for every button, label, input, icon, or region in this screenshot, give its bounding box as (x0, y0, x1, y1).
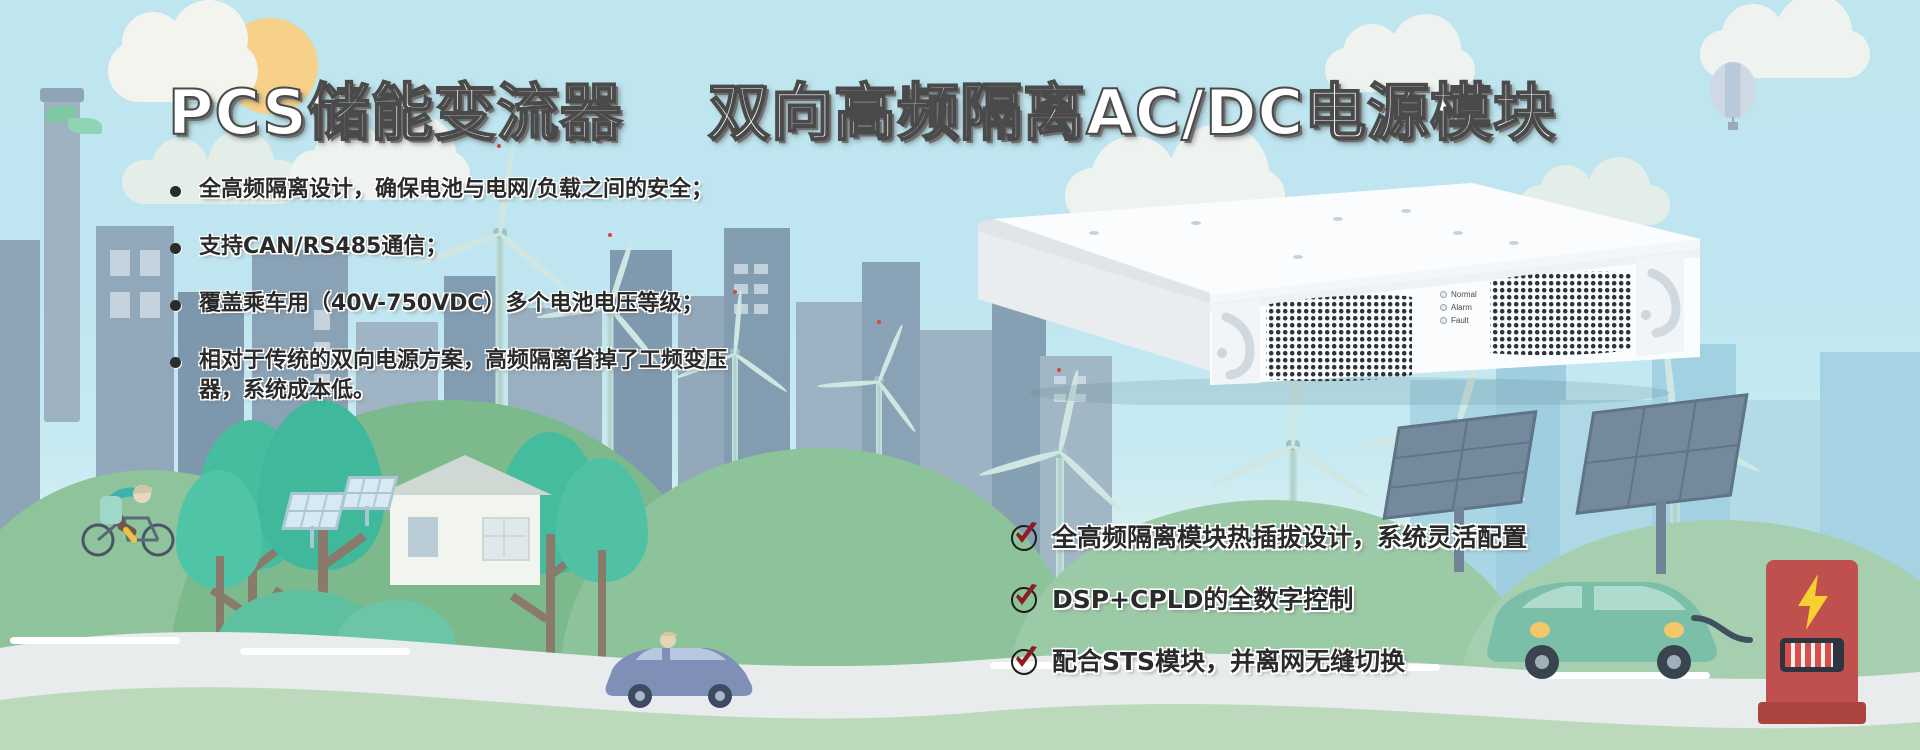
led-label: Fault (1451, 316, 1469, 325)
led-dot (1440, 317, 1447, 324)
solar-panel-icon (1392, 418, 1528, 512)
cyclist-icon (76, 478, 186, 563)
bullet-dot-icon (170, 300, 181, 311)
highlight-text: 全高频隔离模块热插拔设计，系统灵活配置 (1052, 518, 1527, 554)
highlight-list: 全高频隔离模块热插拔设计，系统灵活配置 DSP+CPLD的全数字控制 配合STS… (1010, 518, 1527, 704)
highlight-text: 配合STS模块，并离网无缝切换 (1052, 642, 1405, 678)
list-item: 全高频隔离模块热插拔设计，系统灵活配置 (1010, 518, 1527, 554)
promo-banner: Normal Alarm Fault PCS储能变流器 双向高频隔离AC/DC电… (0, 0, 1920, 750)
check-circle-icon (1010, 521, 1040, 551)
feature-text: 支持CAN/RS485通信； (199, 232, 447, 262)
solar-panel-icon (1586, 402, 1738, 506)
bullet-dot-icon (170, 357, 181, 368)
highlight-text: DSP+CPLD的全数字控制 (1052, 580, 1353, 616)
pcs-power-module: Normal Alarm Fault (960, 175, 1700, 405)
list-item: 支持CAN/RS485通信； (170, 232, 930, 262)
lightning-bolt-icon (1794, 574, 1834, 630)
list-item: 配合STS模块，并离网无缝切换 (1010, 642, 1527, 678)
bullet-dot-icon (170, 186, 181, 197)
led-label: Alarm (1451, 303, 1472, 312)
feature-text: 全高频隔离设计，确保电池与电网/负载之间的安全； (199, 175, 713, 205)
bullet-dot-icon (170, 243, 181, 254)
car-icon (600, 630, 760, 713)
led-indicator-alarm: Alarm (1440, 303, 1472, 312)
led-indicator-normal: Normal (1440, 290, 1477, 299)
list-item: DSP+CPLD的全数字控制 (1010, 580, 1527, 616)
feature-text: 覆盖乘车用（40V-750VDC）多个电池电压等级； (199, 289, 704, 319)
led-dot (1440, 291, 1447, 298)
led-dot (1440, 304, 1447, 311)
check-circle-icon (1010, 583, 1040, 613)
led-label: Normal (1451, 290, 1477, 299)
feature-text: 相对于传统的双向电源方案，高频隔离省掉了工频变压器，系统成本低。 (199, 346, 730, 406)
page-title: PCS储能变流器 双向高频隔离AC/DC电源模块 (168, 62, 1556, 152)
feature-list: 全高频隔离设计，确保电池与电网/负载之间的安全； 支持CAN/RS485通信； … (170, 175, 930, 433)
title-part-2: 双向高频隔离AC/DC电源模块 (708, 76, 1556, 149)
check-circle-icon (1010, 645, 1040, 675)
list-item: 覆盖乘车用（40V-750VDC）多个电池电压等级； (170, 289, 930, 319)
list-item: 相对于传统的双向电源方案，高频隔离省掉了工频变压器，系统成本低。 (170, 346, 730, 406)
battery-indicator-icon (1780, 638, 1844, 672)
list-item: 全高频隔离设计，确保电池与电网/负载之间的安全； (170, 175, 930, 205)
led-indicator-fault: Fault (1440, 316, 1469, 325)
title-part-1: PCS储能变流器 (168, 76, 623, 149)
